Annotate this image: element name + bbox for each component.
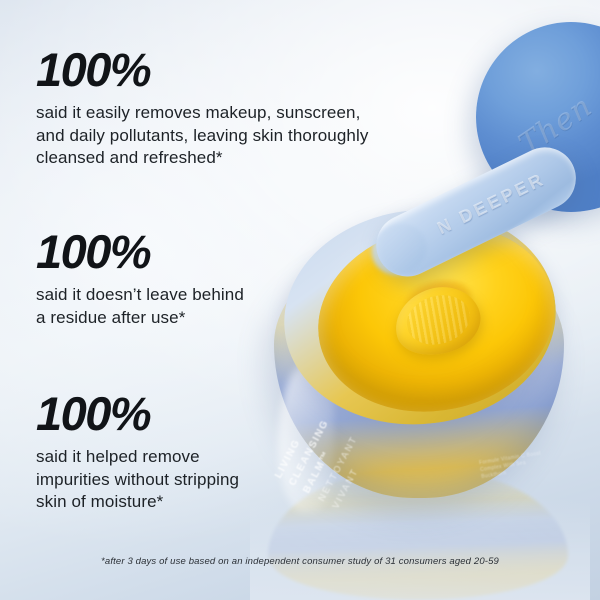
claim-1-text: said it easily removes makeup, sunscreen… [36,102,381,170]
claim-block-1: 100% said it easily removes makeup, suns… [36,46,381,170]
claim-block-2: 100% said it doesn’t leave behind a resi… [36,228,251,329]
claim-2-text: said it doesn’t leave behind a residue a… [36,284,251,329]
claim-3-text: said it helped remove impurities without… [36,446,251,514]
footnote-disclaimer: *after 3 days of use based on an indepen… [0,556,600,567]
product-claims-graphic: Then LIVING CLEANSING BALM™ NETTOYANT VI… [0,0,600,600]
claim-3-stat: 100% [36,390,251,437]
claim-1-stat: 100% [36,46,381,93]
claim-2-stat: 100% [36,228,251,275]
claims-text-layer: 100% said it easily removes makeup, suns… [0,0,600,600]
claim-block-3: 100% said it helped remove impurities wi… [36,390,251,514]
